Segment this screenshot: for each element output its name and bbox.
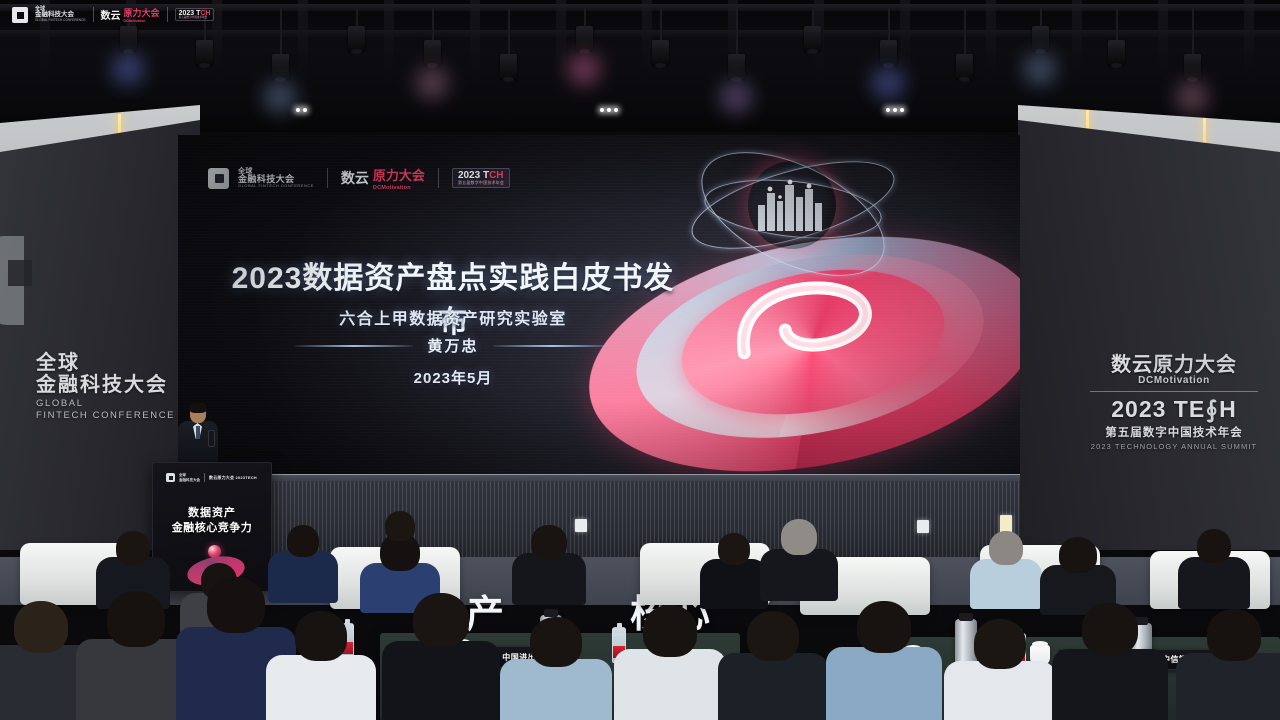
person-head [1059,537,1097,573]
ceiling-hang-rod [280,6,282,54]
led-vignette [178,135,1020,475]
ceiling-hang-rod [1192,6,1194,54]
person-head [989,531,1023,565]
left-wall-en-line1: GLOBAL [36,399,176,410]
right-wall-brand-cn-light: 原力大会 [1153,354,1237,376]
ceiling-light-fixture [804,26,821,51]
person-head [747,611,799,661]
audience-person-front [266,611,376,720]
right-wall-year-main: 2023 TE [1111,396,1205,422]
ceiling-beam [1072,0,1082,120]
ceiling-light-fixture [196,40,213,65]
ceiling-light-fixture [728,54,745,79]
ceiling-beam [642,0,652,120]
ceiling-beam [470,0,480,120]
stage-spot-dot [893,108,897,112]
right-wall-brand-row: 数云原力大会 [1084,348,1264,377]
person-head [1082,603,1138,655]
audience-person-front [382,593,500,720]
person-body [944,661,1056,720]
person-head [413,593,469,647]
person-head [207,577,265,633]
conference-stage-photo: 全球 金融科技大会 GLOBAL FINTECH CONFERENCE 数云原力… [0,0,1280,720]
person-head [643,605,697,657]
ceiling-hang-rod [812,6,814,26]
ceiling-light-fixture [424,40,441,65]
audience-person [1178,529,1250,605]
audience-person [512,525,586,603]
stage-spot-dot [303,108,307,112]
ceiling-beam [384,0,394,120]
right-wall-year: 2023 TE∮H [1084,396,1264,423]
podium-gfc-cn2: 金融科技大会 [179,478,200,482]
watermark-gfc-en: GLOBAL FINTECH CONFERENCE [35,19,86,22]
person-body [512,553,586,605]
stage-spot-dot [614,108,618,112]
audience-person [760,519,838,599]
right-wall-divider [1090,391,1258,392]
main-led-screen: 全球 金融科技大会 GLOBAL FINTECH CONFERENCE 数云 原… [178,135,1020,475]
person-body [614,649,726,720]
person-body [382,641,500,720]
podium-logo-right: 数云原力大会 2023TECH [209,475,257,481]
ceiling-light-glow [719,80,753,114]
person-body [700,559,768,609]
watermark-dc-sub: DCMotivation [124,19,160,23]
podium-logo-bar: 全球 金融科技大会 数云原力大会 2023TECH [166,473,257,482]
left-wall-cn-line2: 金融科技大会 [36,374,176,396]
ceiling-light-glow [567,52,601,86]
watermark-gfc-text: 全球 金融科技大会 GLOBAL FINTECH CONFERENCE [35,7,86,22]
right-wall-summit-en: 2023 TECHNOLOGY ANNUAL SUMMIT [1084,442,1264,451]
ceiling-beam [814,0,824,120]
person-body [970,559,1042,609]
watermark-dc-logo: 数云 原力大会 DCMotivation [101,6,160,23]
watermark-dc-red: 原力大会 [124,6,160,19]
podium-logo-divider [204,473,205,482]
stage-spot-dot [296,108,300,112]
global-fintech-logo-icon [0,230,52,330]
ceiling-light-fixture [348,26,365,51]
person-body [1178,557,1250,609]
ceiling-light-fixture [1032,26,1049,51]
watermark-divider-2 [167,7,168,22]
person-body [1052,649,1168,720]
ceiling-light-fixture [120,26,137,51]
podium-gfc-text: 全球 金融科技大会 [179,473,200,481]
ceiling-beam [900,0,910,120]
audience-person [970,531,1042,605]
broadcast-watermark: 全球 金融科技大会 GLOBAL FINTECH CONFERENCE 数云 原… [12,6,214,23]
ceiling-hang-rod [584,6,586,26]
side-wall-right: 数云原力大会 DCMotivation 2023 TE∮H 第五届数字中国技术年… [1018,120,1280,550]
audience-person-front [718,611,828,720]
audience-person [1040,537,1116,611]
ceiling-light-fixture [1108,40,1125,65]
audience-person-front [500,617,612,720]
person-head [1207,609,1261,661]
stage-spot-dot [607,108,611,112]
ceiling-beam [986,0,996,120]
audience-person-front [1052,603,1168,720]
ceiling-light-glow [111,52,145,86]
ceiling-light-glow [415,66,449,100]
ceiling-hang-rod [736,6,738,54]
audience-person [700,533,768,605]
ceiling-beam [1158,0,1168,120]
ceiling-light-fixture [272,54,289,79]
ceiling-light-fixture [500,54,517,79]
speaker-tie [196,426,200,439]
left-wall-brand-text: 全球 金融科技大会 GLOBAL FINTECH CONFERENCE [36,352,176,422]
ceiling-beam [556,0,566,120]
person-head [385,511,415,541]
person-body [826,647,942,720]
stage-spot-dot [600,108,604,112]
stage-spot-dot [886,108,890,112]
person-head [857,601,911,653]
right-wall-brand-block: 数云原力大会 DCMotivation 2023 TE∮H 第五届数字中国技术年… [1084,348,1264,451]
watermark-year-sub: 第五届数字中国技术年会 [179,17,211,20]
person-head [718,533,750,565]
person-body [500,659,612,720]
ceiling-beam [1244,0,1254,120]
ceiling-light-glow [871,66,905,100]
ceiling-truss-back [0,30,1280,37]
ceiling-hang-rod [356,6,358,26]
person-head [531,525,567,559]
speaker-person [176,404,220,466]
person-head [781,519,817,555]
person-head [530,617,582,667]
ceiling-light-glow [263,80,297,114]
left-wall-cn-line1: 全球 [36,352,176,374]
audience-person-front [826,601,942,720]
person-head [287,525,319,557]
speaker-microphone [208,430,215,447]
audience-person-front [614,605,726,720]
person-body [760,549,838,601]
ceiling-beam [298,0,308,120]
watermark-year-badge: 2023 TCH 第五届数字中国技术年会 [175,8,215,22]
ceiling-light-fixture [652,40,669,65]
audience-person-front [1176,609,1280,720]
ceiling-hang-rod [1116,6,1118,40]
audience-person-front [944,619,1056,720]
watermark-divider [93,7,94,22]
ceiling-light-fixture [956,54,973,79]
ceiling-hang-rod [508,6,510,54]
person-body [266,655,376,720]
person-head [1197,529,1231,563]
ceiling-hang-rod [432,6,434,40]
ceiling-hang-rod [1040,6,1042,26]
person-head [107,591,165,647]
speaker-hair [189,402,207,413]
ceiling-light-fixture [880,40,897,65]
ceiling-light-fixture [576,26,593,51]
left-wall-en-line2: FINTECH CONFERENCE [36,411,176,422]
right-wall-year-tail: H [1219,396,1237,422]
ceiling-light-fixture [1184,54,1201,79]
person-body [718,653,828,720]
ceiling-light-glow [1175,80,1209,114]
watermark-gfc-mark-icon [12,7,28,23]
right-wall-summit-cn: 第五届数字中国技术年会 [1084,424,1264,440]
watermark-dc-cn: 数云 [101,7,121,22]
audience-person [372,511,428,555]
ceiling-light-glow [1023,52,1057,86]
audience-area: 中国进出口银行 中信银行 中信银行 [0,515,1280,720]
person-head [14,601,68,653]
right-wall-brand-cn: 数云 [1111,354,1153,376]
ceiling-hang-rod [888,6,890,40]
person-head [116,531,150,565]
person-head [974,619,1026,669]
stage-spot-dot [900,108,904,112]
ceiling-hang-rod [964,6,966,54]
person-head [295,611,347,661]
podium-gfc-mark-icon [166,473,175,482]
person-body [1176,653,1280,720]
ceiling-hang-rod [660,6,662,40]
